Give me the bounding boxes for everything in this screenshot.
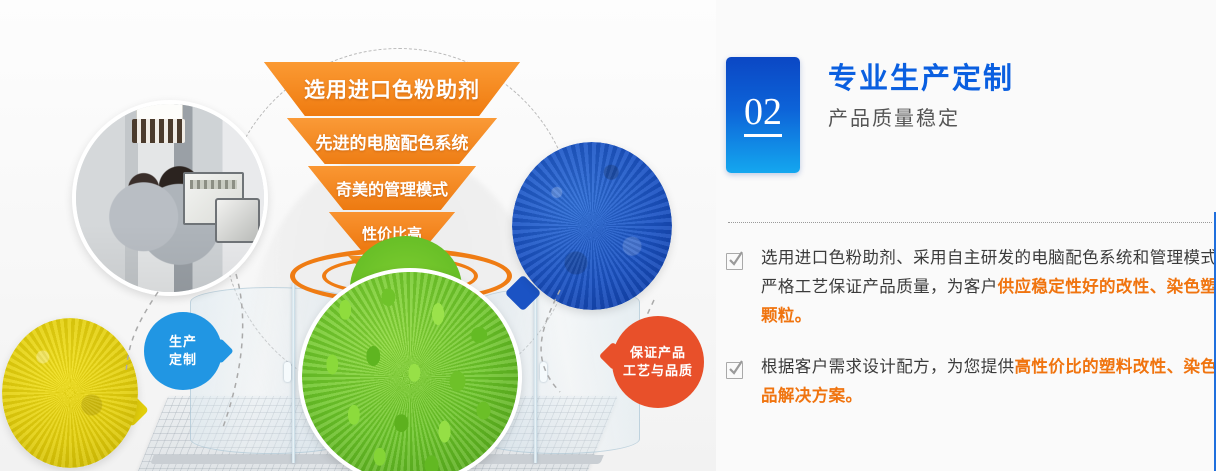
- dotted-divider: [728, 222, 1212, 223]
- lab-photo-circle: [72, 100, 268, 296]
- bullet-list: 选用进口色粉助剂、采用自主研发的电脑配色系统和管理模式， 严格工艺保证产品质量，…: [726, 244, 1216, 432]
- lab-sample-rack: [132, 119, 185, 143]
- bullet-1-line-2-highlight: 供应稳定性好的改性、染色塑料: [998, 278, 1216, 296]
- badge-orange-line1: 保证产品: [630, 344, 686, 362]
- blue-pigment-circle: [512, 142, 672, 310]
- section-number: 02: [744, 93, 782, 137]
- check-mark-icon: [728, 251, 744, 269]
- page-title: 专业生产定制: [828, 62, 1208, 97]
- funnel-level-2: 先进的电脑配色系统: [287, 118, 497, 164]
- bullet-text: 根据客户需求设计配方，为您提供高性价比的塑料改性、染色产 品解决方案。: [761, 353, 1213, 411]
- bullet-1-line-2: 严格工艺保证产品质量，为客户供应稳定性好的改性、染色塑料: [761, 273, 1213, 302]
- green-pellets-texture: [302, 272, 518, 471]
- blue-powder-texture: [512, 142, 672, 310]
- yellow-powder-texture: [2, 318, 138, 468]
- badge-production-custom[interactable]: 生产 定制: [144, 312, 222, 390]
- glass-door-left: [292, 283, 295, 463]
- lab-instrument: [215, 198, 260, 243]
- content-panel: 02 专业生产定制 产品质量稳定 选用进口色粉助剂、采用自主研发的电脑配色系统和…: [716, 0, 1216, 471]
- page-subtitle: 产品质量稳定: [828, 107, 1208, 131]
- lab-photo-image: [76, 104, 264, 292]
- bullet-2-line-1-highlight: 高性价比的塑料改性、染色产: [1015, 358, 1216, 376]
- bullet-text: 选用进口色粉助剂、采用自主研发的电脑配色系统和管理模式， 严格工艺保证产品质量，…: [761, 244, 1213, 331]
- funnel-level-3: 奇美的管理模式: [308, 166, 476, 210]
- bullet-1-line-2-plain: 严格工艺保证产品质量，为客户: [761, 278, 998, 296]
- badge-quality-guarantee[interactable]: 保证产品 工艺与品质: [612, 316, 704, 408]
- check-mark-icon: [728, 360, 744, 378]
- bullet-2-line-1-plain: 根据客户需求设计配方，为您提供: [761, 358, 1015, 376]
- checkbox-checked-icon: [726, 362, 743, 379]
- glass-handle-left: [284, 362, 291, 382]
- bullet-2-line-2: 品解决方案。: [761, 382, 1213, 411]
- glass-door-right: [534, 283, 537, 463]
- badge-blue-line1: 生产: [169, 333, 197, 351]
- badge-orange-line2: 工艺与品质: [623, 362, 693, 380]
- section-number-box: 02: [726, 57, 800, 173]
- list-item: 选用进口色粉助剂、采用自主研发的电脑配色系统和管理模式， 严格工艺保证产品质量，…: [726, 244, 1216, 331]
- bullet-1-line-1: 选用进口色粉助剂、采用自主研发的电脑配色系统和管理模式，: [761, 244, 1213, 273]
- list-item: 根据客户需求设计配方，为您提供高性价比的塑料改性、染色产 品解决方案。: [726, 353, 1216, 411]
- promo-banner: 选用进口色粉助剂 先进的电脑配色系统 奇美的管理模式 性价比高 生产 定制 保证…: [0, 0, 1216, 471]
- glass-handle-right: [540, 362, 547, 382]
- bullet-2-line-1: 根据客户需求设计配方，为您提供高性价比的塑料改性、染色产: [761, 353, 1213, 382]
- illustration-panel: 选用进口色粉助剂 先进的电脑配色系统 奇美的管理模式 性价比高 生产 定制 保证…: [0, 0, 716, 471]
- section-headings: 专业生产定制 产品质量稳定: [828, 62, 1208, 131]
- funnel-level-1: 选用进口色粉助剂: [264, 62, 520, 116]
- checkbox-checked-icon: [726, 253, 743, 270]
- green-pellets-circle: [298, 268, 522, 471]
- yellow-pigment-circle: [2, 318, 138, 468]
- badge-blue-line2: 定制: [169, 351, 197, 369]
- bullet-1-line-3: 颗粒。: [761, 302, 1213, 331]
